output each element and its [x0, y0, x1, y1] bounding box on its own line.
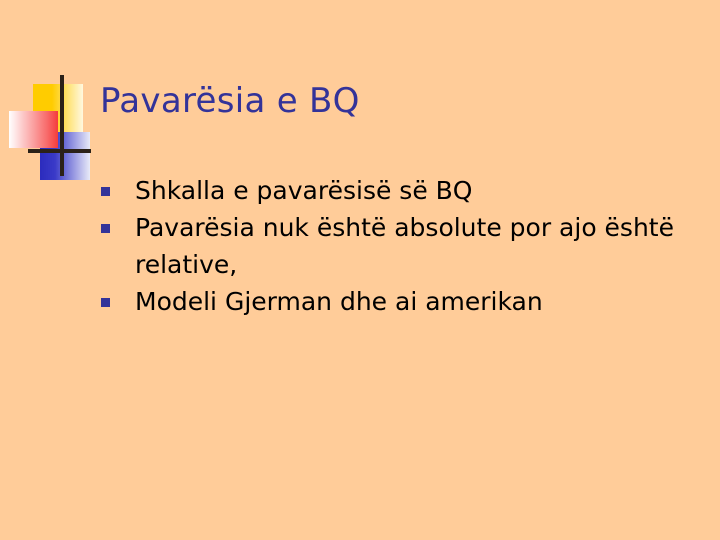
- list-item-label: Pavarësia nuk është absolute por ajo ësh…: [135, 209, 679, 283]
- list-item: Shkalla e pavarësisë së BQ: [99, 172, 679, 209]
- design-logo-mark: [0, 70, 100, 170]
- list-item-label: Shkalla e pavarësisë së BQ: [135, 172, 679, 209]
- list-item: Pavarësia nuk është absolute por ajo ësh…: [99, 209, 679, 283]
- page-title: Pavarësia e BQ: [100, 80, 360, 122]
- bullet-square-icon: [101, 298, 110, 307]
- slide-canvas: Pavarësia e BQ Shkalla e pavarësisë së B…: [0, 0, 720, 540]
- bullet-square-icon: [101, 224, 110, 233]
- horizontal-rule-icon: [28, 149, 91, 153]
- title-underline-rule: [60, 139, 690, 142]
- bullet-square-icon: [101, 187, 110, 196]
- red-gradient-rectangle-icon: [9, 111, 58, 148]
- bullet-list: Shkalla e pavarësisë së BQ Pavarësia nuk…: [99, 172, 679, 320]
- list-item: Modeli Gjerman dhe ai amerikan: [99, 283, 679, 320]
- list-item-label: Modeli Gjerman dhe ai amerikan: [135, 283, 679, 320]
- vertical-rule-icon: [60, 75, 64, 176]
